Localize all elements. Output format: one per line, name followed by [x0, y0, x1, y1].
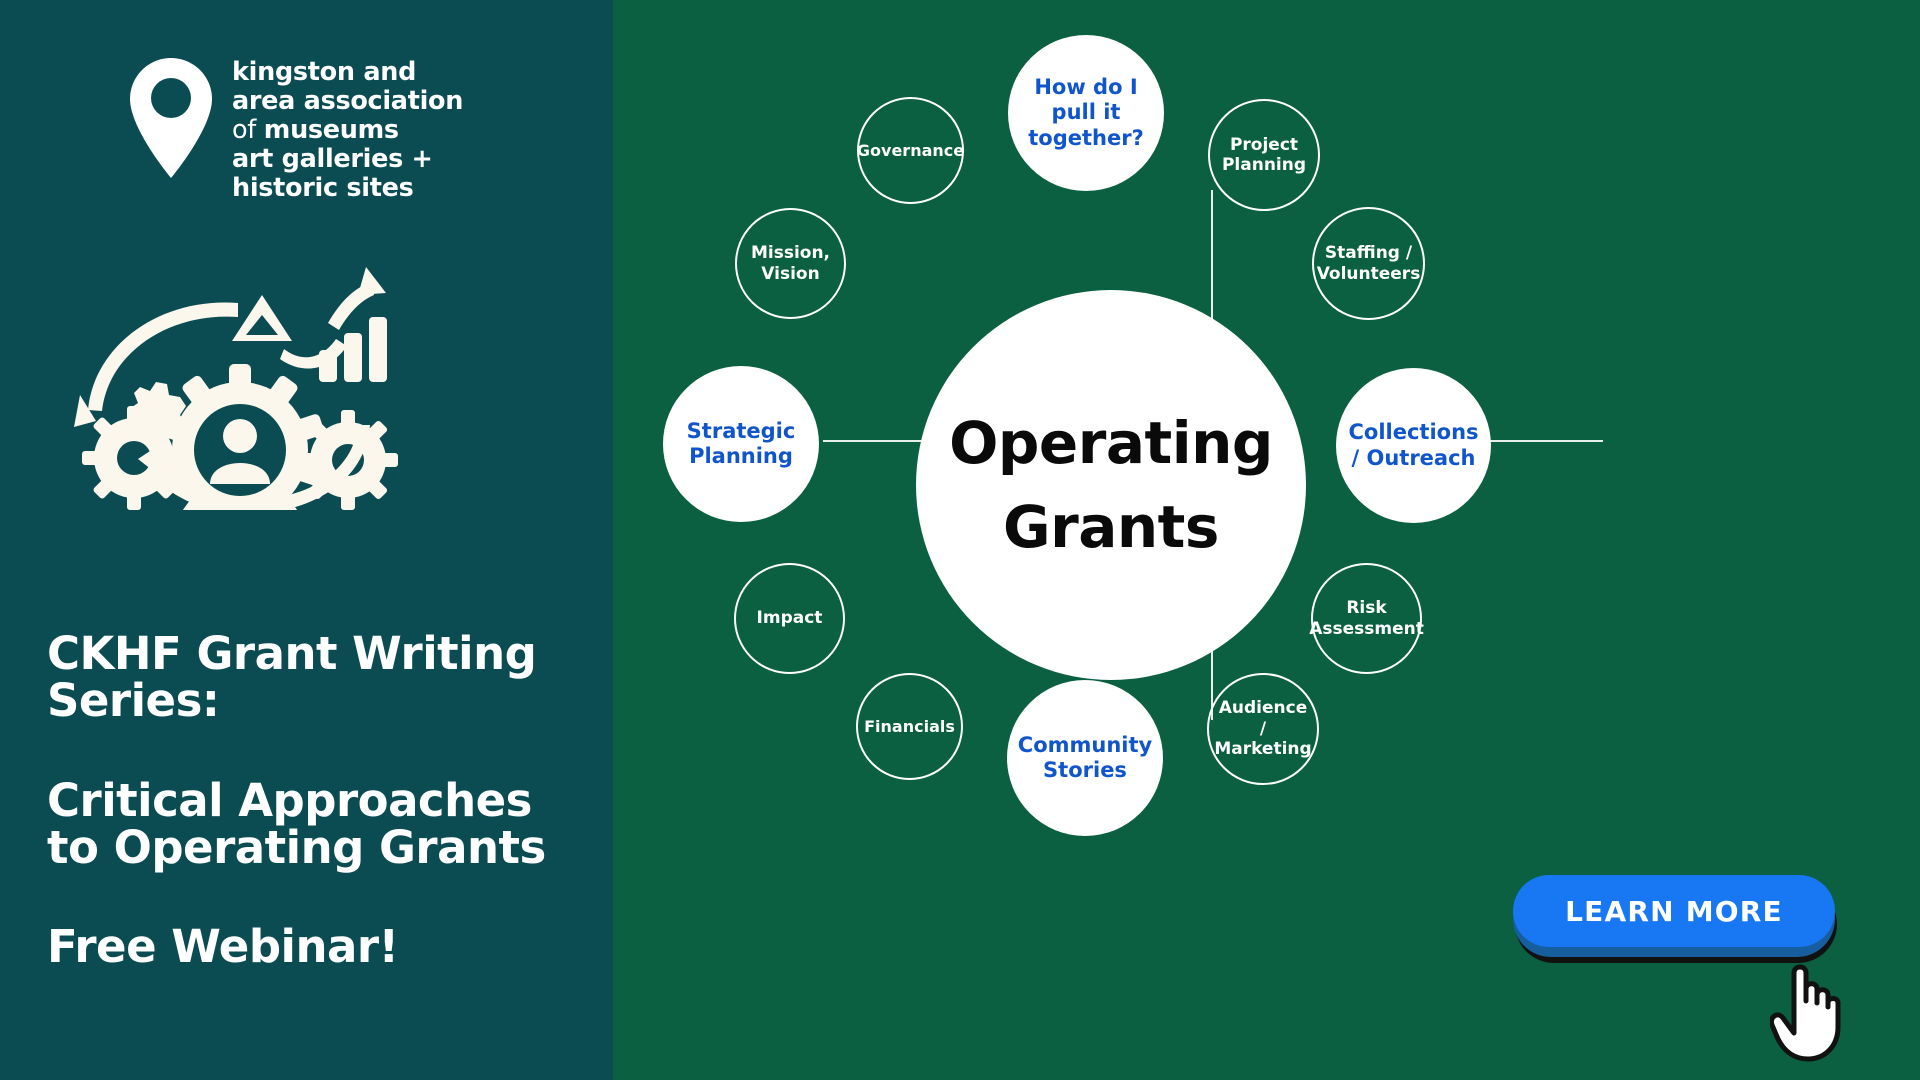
node-label: Risk Assessment	[1309, 598, 1424, 639]
center-node-label-line1: Operating	[949, 401, 1273, 485]
node-risk-assessment[interactable]: Risk Assessment	[1311, 563, 1422, 674]
headline-paragraph-3: Free Webinar!	[47, 923, 592, 970]
node-label: How do I pull it together?	[1026, 75, 1146, 151]
headline-line: Critical Approaches	[47, 777, 592, 824]
headline-line: to Operating Grants	[47, 824, 592, 871]
logo-line-4: art galleries +	[232, 145, 463, 174]
logo-line-3: of museums	[232, 116, 463, 145]
headline-line: CKHF Grant Writing	[47, 630, 592, 677]
node-label: Collections / Outreach	[1348, 420, 1478, 470]
logo-line-5: historic sites	[232, 174, 463, 203]
center-node-label-line2: Grants	[949, 485, 1273, 569]
headline-paragraph-2: Critical Approaches to Operating Grants	[47, 777, 592, 872]
gears-growth-illustration	[70, 245, 410, 510]
center-node-operating-grants[interactable]: Operating Grants	[916, 290, 1306, 680]
node-label: Mission, Vision	[751, 243, 830, 284]
learn-more-button[interactable]: LEARN MORE	[1513, 875, 1835, 947]
node-label: Audience / Marketing	[1214, 698, 1311, 759]
node-staffing-volunteers[interactable]: Staffing / Volunteers	[1312, 207, 1425, 320]
node-label: Staffing / Volunteers	[1317, 243, 1421, 284]
page-headline: CKHF Grant Writing Series: Critical Appr…	[47, 630, 592, 970]
logo-line-1: kingston and	[232, 58, 463, 87]
node-collections-outreach[interactable]: Collections / Outreach	[1336, 368, 1491, 523]
node-how-do-i-pull-it-together[interactable]: How do I pull it together?	[1008, 35, 1164, 191]
logo-wordmark: kingston and area association of museums…	[232, 58, 463, 203]
headline-paragraph-1: CKHF Grant Writing Series:	[47, 630, 592, 725]
logo-line-3-light: of	[232, 115, 264, 145]
node-audience-marketing[interactable]: Audience / Marketing	[1207, 673, 1319, 785]
node-strategic-planning[interactable]: Strategic Planning	[663, 366, 819, 522]
learn-more-cta[interactable]: LEARN MORE	[1511, 875, 1841, 967]
headline-line: Series:	[47, 677, 592, 724]
node-label: Project Planning	[1222, 135, 1306, 176]
node-financials[interactable]: Financials	[856, 673, 963, 780]
node-label: Governance	[857, 141, 964, 160]
left-panel: kingston and area association of museums…	[0, 0, 613, 1080]
headline-line: Free Webinar!	[47, 923, 592, 970]
node-community-stories[interactable]: Community Stories	[1007, 680, 1163, 836]
logo-line-3-bold: museums	[264, 115, 399, 145]
node-impact[interactable]: Impact	[734, 563, 845, 674]
logo-line-2: area association	[232, 87, 463, 116]
poster-canvas: kingston and area association of museums…	[0, 0, 1920, 1080]
node-label: Impact	[757, 608, 823, 628]
node-governance[interactable]: Governance	[857, 97, 964, 204]
node-label: Strategic Planning	[683, 419, 799, 469]
node-project-planning[interactable]: Project Planning	[1208, 99, 1320, 211]
node-mission-vision[interactable]: Mission, Vision	[735, 208, 846, 319]
node-label: Community Stories	[1018, 733, 1152, 783]
node-label: Financials	[864, 717, 955, 736]
organization-logo: kingston and area association of museums…	[130, 58, 463, 203]
map-pin-icon	[130, 58, 212, 178]
